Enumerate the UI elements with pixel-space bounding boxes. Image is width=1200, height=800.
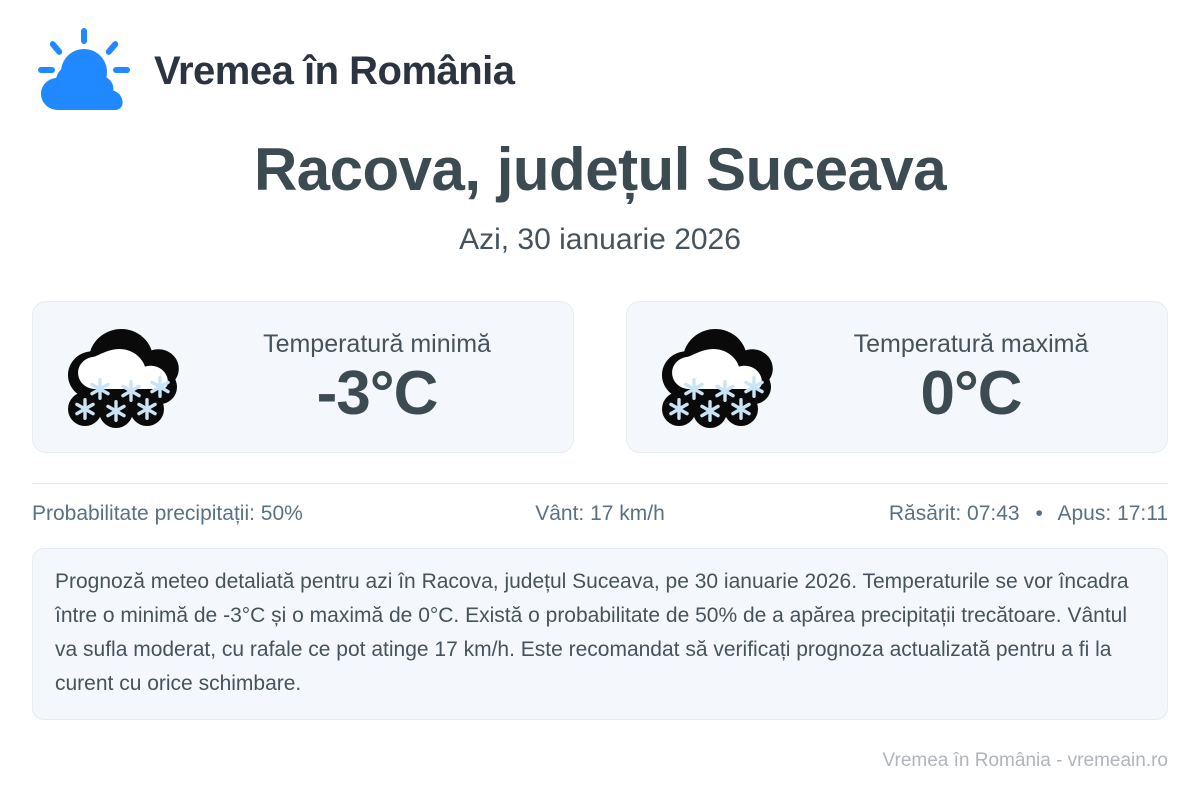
stats-row: Probabilitate precipitații: 50% Vânt: 17… [32, 502, 1168, 526]
snow-cloud-icon [649, 321, 779, 433]
temperature-cards: Temperatură minimă -3°C [32, 301, 1168, 453]
sun-behind-cloud-icon [32, 26, 136, 116]
site-brand[interactable]: Vremea în România [32, 0, 1168, 96]
stat-wind: Vânt: 17 km/h [411, 502, 790, 526]
forecast-description: Prognoză meteo detaliată pentru azi în R… [32, 548, 1168, 720]
page-subtitle: Azi, 30 ianuarie 2026 [32, 223, 1168, 257]
card-temperature-max: Temperatură maximă 0°C [626, 301, 1168, 453]
stats-divider [32, 483, 1168, 484]
card-temperature-min: Temperatură minimă -3°C [32, 301, 574, 453]
card-body-min: Temperatură minimă -3°C [205, 329, 559, 426]
card-label-max: Temperatură maximă [799, 329, 1143, 359]
footer-credit: Vremea în România - vremeain.ro [883, 750, 1168, 772]
card-label-min: Temperatură minimă [205, 329, 549, 359]
stat-precipitation: Probabilitate precipitații: 50% [32, 502, 411, 526]
stat-sunset: Apus: 17:11 [1057, 502, 1168, 525]
card-value-min: -3°C [205, 361, 549, 426]
snow-cloud-icon [55, 321, 185, 433]
page-title: Racova, județul Suceava [32, 136, 1168, 203]
stat-sun-times: Răsărit: 07:43 • Apus: 17:11 [789, 502, 1168, 526]
card-body-max: Temperatură maximă 0°C [799, 329, 1153, 426]
stat-sunrise: Răsărit: 07:43 [889, 502, 1020, 525]
stat-separator: • [1035, 502, 1042, 525]
card-value-max: 0°C [799, 361, 1143, 426]
weather-page: Vremea în România Racova, județul Suceav… [0, 0, 1200, 800]
brand-name: Vremea în România [154, 50, 515, 92]
